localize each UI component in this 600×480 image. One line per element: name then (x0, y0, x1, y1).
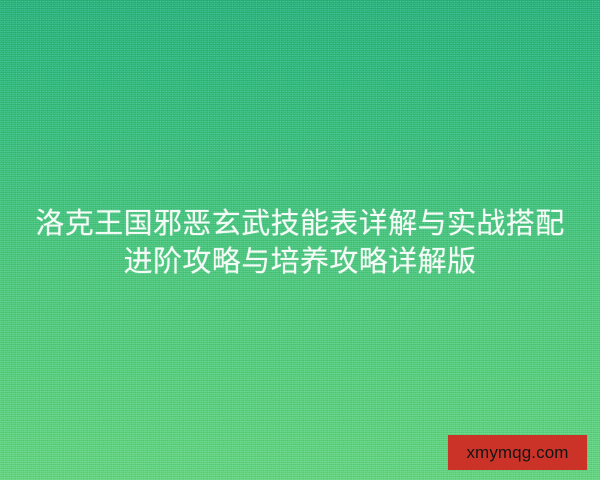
title-card-canvas: 洛克王国邪恶玄武技能表详解与实战搭配 进阶攻略与培养攻略详解版 xmymqg.c… (0, 0, 600, 480)
headline-title: 洛克王国邪恶玄武技能表详解与实战搭配 进阶攻略与培养攻略详解版 (0, 205, 600, 281)
headline-line-2: 进阶攻略与培养攻略详解版 (0, 243, 600, 281)
headline-line-1: 洛克王国邪恶玄武技能表详解与实战搭配 (0, 205, 600, 243)
site-watermark-badge: xmymqg.com (448, 435, 587, 470)
site-watermark-text: xmymqg.com (466, 444, 568, 461)
